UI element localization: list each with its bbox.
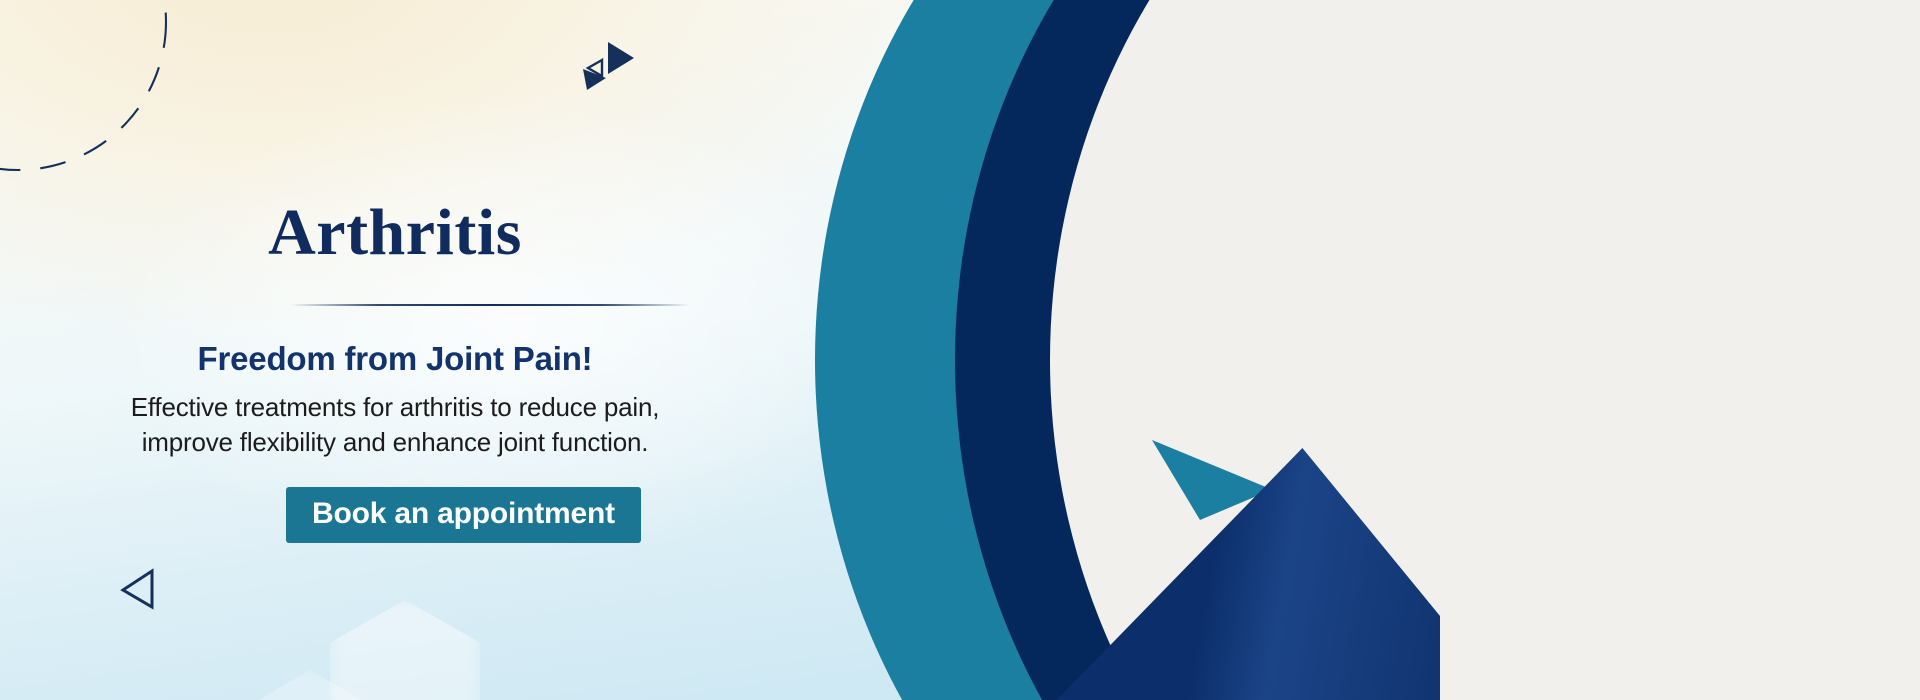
arthritis-hero-banner: Arthritis Freedom from Joint Pain! Effec… — [0, 0, 1920, 700]
title-divider — [290, 304, 690, 306]
page-title: Arthritis — [0, 200, 790, 266]
hero-description-line-1: Effective treatments for arthritis to re… — [0, 390, 790, 425]
hero-image-stage — [720, 0, 1920, 700]
hero-text-content: Arthritis Freedom from Joint Pain! Effec… — [0, 0, 790, 700]
book-appointment-button[interactable]: Book an appointment — [286, 487, 641, 543]
hero-description: Effective treatments for arthritis to re… — [0, 390, 790, 460]
hero-subtitle: Freedom from Joint Pain! — [0, 340, 790, 378]
hero-description-line-2: improve flexibility and enhance joint fu… — [0, 425, 790, 460]
